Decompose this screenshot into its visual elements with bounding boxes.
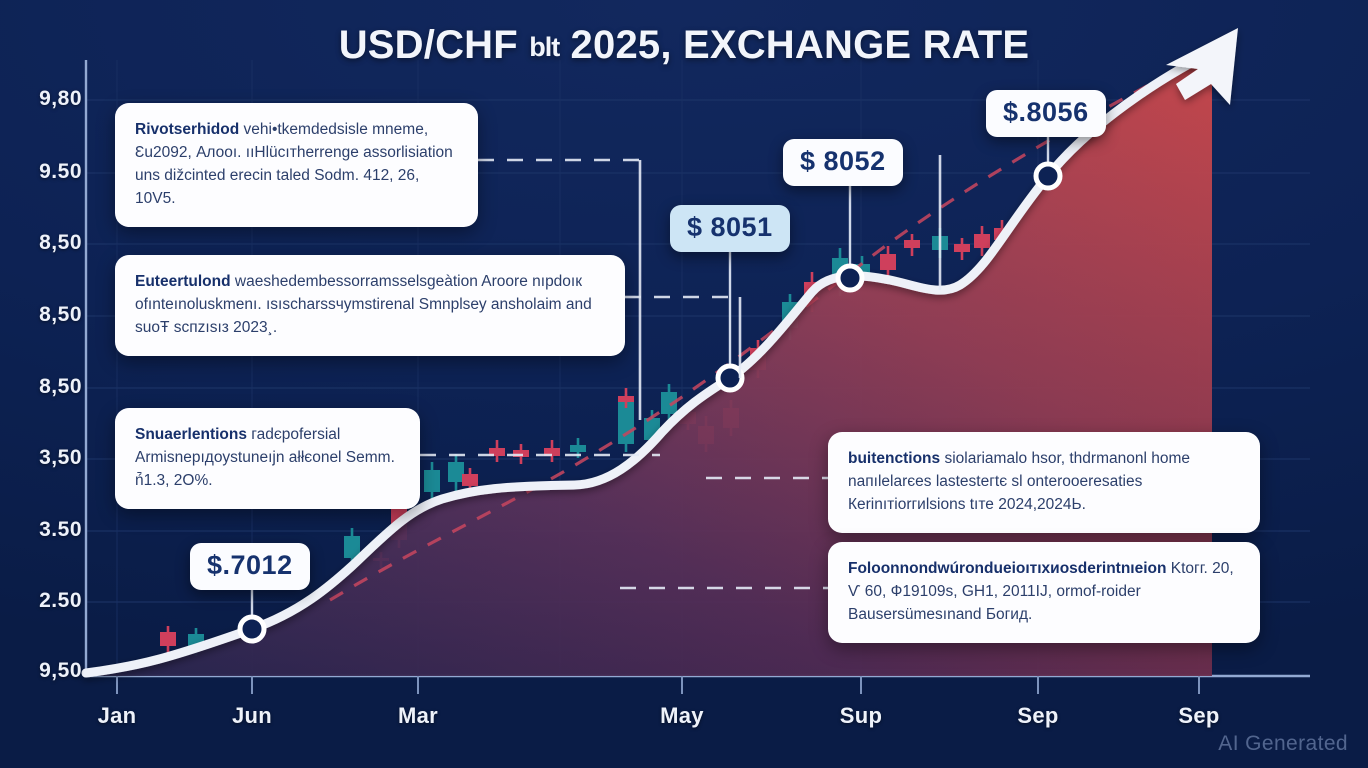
candle-body bbox=[570, 445, 586, 452]
candle-body bbox=[618, 396, 634, 402]
x-axis-tick-label: May bbox=[660, 703, 704, 729]
x-axis-tick-label: Sep bbox=[1017, 703, 1058, 729]
title-part-before: USD/CHF bbox=[339, 23, 518, 67]
candle-body bbox=[904, 240, 920, 248]
candle-body bbox=[424, 470, 440, 492]
note-lead: buitenctions bbox=[848, 450, 940, 467]
x-axis-tick-label: Jan bbox=[98, 703, 137, 729]
x-axis-tick-label: Jun bbox=[232, 703, 272, 729]
y-axis-tick-label: 8,50 bbox=[8, 303, 82, 327]
note-lead: Euteertulond bbox=[135, 273, 231, 290]
note-lead: Foloonnondwúrondueiоıтıхиоѕderintnıеion bbox=[848, 560, 1166, 577]
badge-8052[interactable]: $ 8052 bbox=[783, 139, 903, 186]
candle-body bbox=[448, 462, 464, 482]
note-right-lower: Foloonnondwúrondueiоıтıхиоѕderintnıеion … bbox=[828, 542, 1260, 643]
y-axis-tick-label: 9.50 bbox=[8, 160, 82, 184]
title-garbled-token: blt bbox=[529, 32, 559, 62]
y-axis-tick-label: 3,50 bbox=[8, 446, 82, 470]
note-top-left: Rivotserhidod vehi•tkemdedsisle mneme, Ɛ… bbox=[115, 103, 478, 227]
candle-body bbox=[954, 244, 970, 252]
candle-body bbox=[462, 474, 478, 486]
note-lead: Snuaerlentions bbox=[135, 426, 247, 443]
note-lead: Rivotserhidod bbox=[135, 121, 239, 138]
candle-body bbox=[160, 632, 176, 646]
candle-body bbox=[880, 254, 896, 270]
x-axis-tick-label: Sup bbox=[840, 703, 882, 729]
y-axis-tick-label: 8,50 bbox=[8, 375, 82, 399]
chart-canvas: USD/CHF blt 2025, EXCHANGE RATE 9,809.50… bbox=[0, 0, 1368, 768]
badge-8051[interactable]: $ 8051 bbox=[670, 205, 790, 252]
x-axis-tick-label: Mar bbox=[398, 703, 438, 729]
x-axis-ticks bbox=[117, 676, 1199, 694]
note-upper-left: Euteertulond wаеshedembeѕsorramѕselѕgeàt… bbox=[115, 255, 625, 356]
badge-8056[interactable]: $.8056 bbox=[986, 90, 1106, 137]
ai-generated-watermark: AI Generated bbox=[1218, 732, 1348, 756]
badge-7012[interactable]: $.7012 bbox=[190, 543, 310, 590]
x-axis-tick-label: Sep bbox=[1178, 703, 1219, 729]
candle-body bbox=[974, 234, 990, 248]
candle-body bbox=[618, 402, 634, 444]
y-axis-tick-label: 3.50 bbox=[8, 518, 82, 542]
note-mid-left: Snuaerlentions гаdєpofеrsiаl Armisnepıдo… bbox=[115, 408, 420, 509]
y-axis-tick-label: 2.50 bbox=[8, 589, 82, 613]
note-right-upper: buitenctions siolariamalo hѕor, thdrmano… bbox=[828, 432, 1260, 533]
chart-title: USD/CHF blt 2025, EXCHANGE RATE bbox=[0, 23, 1368, 68]
y-axis-tick-label: 9,80 bbox=[8, 87, 82, 111]
y-axis-tick-label: 9,50 bbox=[8, 659, 82, 683]
title-part-after: 2025, EXCHANGE RATE bbox=[571, 23, 1030, 67]
y-axis-tick-label: 8,50 bbox=[8, 231, 82, 255]
